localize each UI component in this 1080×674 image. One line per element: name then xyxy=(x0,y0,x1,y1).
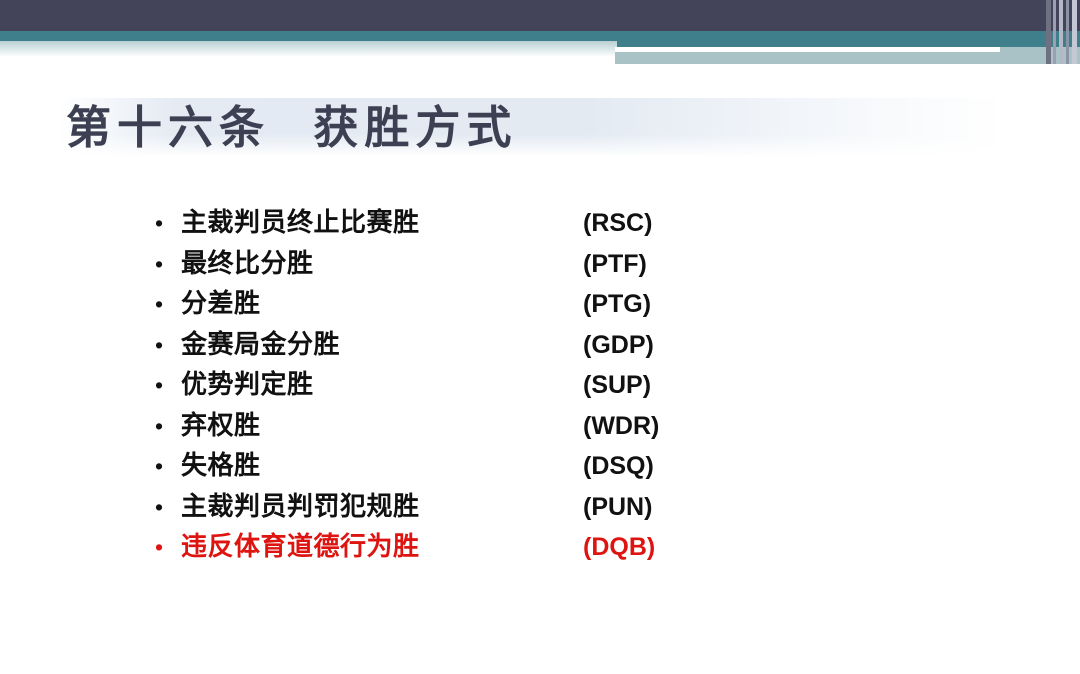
list-item-code: (DQB) xyxy=(583,527,655,568)
header-fade-band-left xyxy=(0,41,617,57)
list-item-code: (PUN) xyxy=(583,487,652,528)
list-item-label: 主裁判员终止比赛胜 xyxy=(181,203,583,244)
list-item: • 主裁判员判罚犯规胜 (PUN) xyxy=(155,487,715,528)
presentation-slide: 第十六条 获胜方式 • 主裁判员终止比赛胜 (RSC) • 最终比分胜 (PTF… xyxy=(0,0,1080,674)
header-teal-band-left xyxy=(0,31,617,41)
bullet-icon: • xyxy=(155,284,181,325)
list-item-label: 优势判定胜 xyxy=(181,365,583,406)
header-navy-band xyxy=(0,0,1080,31)
bullet-icon: • xyxy=(155,325,181,366)
list-item-label: 主裁判员判罚犯规胜 xyxy=(181,487,583,528)
list-item-label: 最终比分胜 xyxy=(181,244,583,285)
stripe-2 xyxy=(1053,0,1056,64)
list-item-code: (PTF) xyxy=(583,244,647,285)
header-pale-band-right xyxy=(615,52,1000,64)
list-item: • 弃权胜 (WDR) xyxy=(155,406,715,447)
list-item-code: (SUP) xyxy=(583,365,651,406)
list-item-code: (WDR) xyxy=(583,406,659,447)
list-item: • 优势判定胜 (SUP) xyxy=(155,365,715,406)
list-item-label: 违反体育道德行为胜 xyxy=(181,527,583,568)
list-item-code: (RSC) xyxy=(583,203,652,244)
list-item: • 主裁判员终止比赛胜 (RSC) xyxy=(155,203,715,244)
stripe-3 xyxy=(1059,0,1063,64)
stripe-5 xyxy=(1072,0,1077,64)
header-teal-band-right xyxy=(615,31,1080,47)
bullet-icon: • xyxy=(155,446,181,487)
list-item: • 分差胜 (PTG) xyxy=(155,284,715,325)
list-item-code: (DSQ) xyxy=(583,446,654,487)
bullet-icon: • xyxy=(155,527,181,568)
list-item: • 失格胜 (DSQ) xyxy=(155,446,715,487)
list-item-label: 弃权胜 xyxy=(181,406,583,447)
stripe-4 xyxy=(1066,0,1069,64)
list-item-highlighted: • 违反体育道德行为胜 (DQB) xyxy=(155,527,715,568)
bullet-icon: • xyxy=(155,487,181,528)
stripe-1 xyxy=(1046,0,1051,64)
header-vertical-stripes xyxy=(1040,0,1080,90)
bullet-icon: • xyxy=(155,203,181,244)
header-decoration xyxy=(0,0,1080,90)
bullet-icon: • xyxy=(155,244,181,285)
page-title: 第十六条 获胜方式 xyxy=(66,98,517,158)
bullet-icon: • xyxy=(155,365,181,406)
list-item-code: (PTG) xyxy=(583,284,651,325)
list-item-label: 分差胜 xyxy=(181,284,583,325)
win-methods-list: • 主裁判员终止比赛胜 (RSC) • 最终比分胜 (PTF) • 分差胜 (P… xyxy=(155,203,715,568)
list-item: • 最终比分胜 (PTF) xyxy=(155,244,715,285)
list-item-label: 失格胜 xyxy=(181,446,583,487)
bullet-icon: • xyxy=(155,406,181,447)
list-item-code: (GDP) xyxy=(583,325,654,366)
list-item-label: 金赛局金分胜 xyxy=(181,325,583,366)
list-item: • 金赛局金分胜 (GDP) xyxy=(155,325,715,366)
